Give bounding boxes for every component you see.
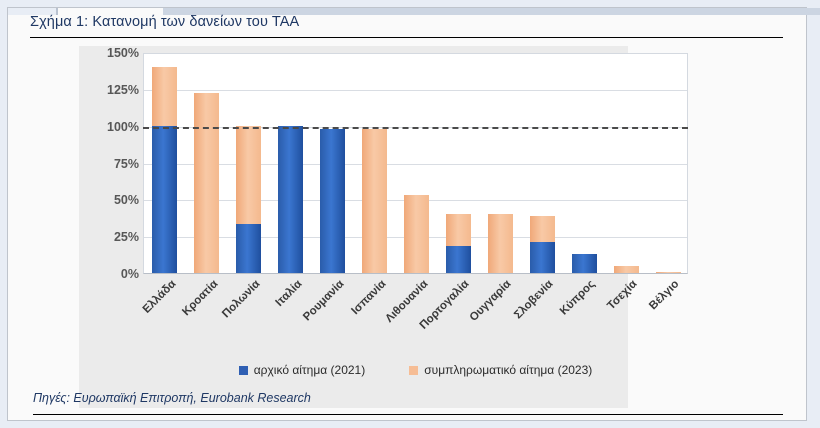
legend-item[interactable]: αρχικό αίτημα (2021) [239,363,365,377]
y-tick-label: 125% [97,83,139,97]
legend-label: συμπληρωματικό αίτημα (2023) [424,363,592,377]
bar-segment-initial[interactable] [236,224,261,273]
source-note: Πηγές: Ευρωπαϊκή Επιτροπή, Eurobank Rese… [33,391,311,405]
bottom-divider [33,414,783,415]
y-tick-label: 50% [97,193,139,207]
bar-group[interactable] [278,54,303,273]
bar-group[interactable] [656,54,681,273]
plot-area [143,53,688,274]
bar-segment-initial[interactable] [152,126,177,273]
title-divider [30,37,783,38]
bar-segment-supplementary[interactable] [530,216,555,243]
y-axis-labels: 150%125%100%75%50%25%0% [93,53,139,274]
bar-group[interactable] [152,54,177,273]
y-tick-label: 0% [97,267,139,281]
bar-segment-supplementary[interactable] [404,195,429,273]
bar-group[interactable] [362,54,387,273]
bar-group[interactable] [446,54,471,273]
x-axis-labels: ΕλλάδαΚροατίαΠολωνίαΙταλίαΡουμανίαΙσπανί… [143,274,688,334]
y-tick-label: 100% [97,120,139,134]
bar-group[interactable] [320,54,345,273]
bar-segment-initial[interactable] [446,246,471,273]
bar-group[interactable] [488,54,513,273]
chart-legend: αρχικό αίτημα (2021)συμπληρωματικό αίτημ… [143,363,688,377]
bar-group[interactable] [236,54,261,273]
plot-wrapper [143,53,688,274]
bar-group[interactable] [194,54,219,273]
bar-group[interactable] [530,54,555,273]
legend-label: αρχικό αίτημα (2021) [254,363,365,377]
bar-segment-initial[interactable] [278,126,303,273]
y-tick-label: 75% [97,157,139,171]
bar-segment-initial[interactable] [320,129,345,273]
y-tick-label: 25% [97,230,139,244]
bar-segment-initial[interactable] [530,242,555,273]
document-page: Σχήμα 1: Κατανομή των δανείων του ΤΑΑ 15… [7,7,807,421]
bar-segment-supplementary[interactable] [152,67,177,126]
bar-segment-supplementary[interactable] [656,272,681,273]
bar-segment-supplementary[interactable] [236,126,261,225]
legend-swatch-icon [409,366,418,375]
bar-segment-supplementary[interactable] [362,129,387,273]
bar-segment-supplementary[interactable] [488,214,513,273]
bar-group[interactable] [614,54,639,273]
bar-group[interactable] [404,54,429,273]
y-tick-label: 150% [97,46,139,60]
legend-swatch-icon [239,366,248,375]
legend-item[interactable]: συμπληρωματικό αίτημα (2023) [409,363,592,377]
figure-title: Σχήμα 1: Κατανομή των δανείων του ΤΑΑ [30,14,790,30]
bar-segment-initial[interactable] [572,254,597,273]
reference-line-100 [143,127,688,129]
bar-segment-supplementary[interactable] [614,266,639,273]
bar-segment-supplementary[interactable] [446,214,471,246]
bar-segment-supplementary[interactable] [194,93,219,273]
bar-group[interactable] [572,54,597,273]
